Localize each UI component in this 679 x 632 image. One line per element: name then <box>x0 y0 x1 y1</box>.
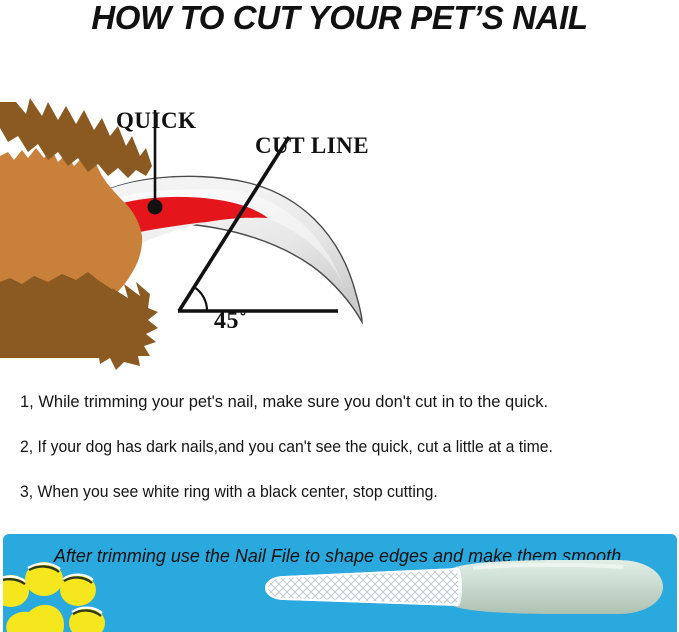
angle-arc-icon <box>194 287 207 311</box>
quick-pointer-dot <box>148 200 163 215</box>
nail-anatomy-diagram: QUICK CUT LINE 45˚ <box>0 36 679 372</box>
label-cut-line: CUT LINE <box>255 133 369 159</box>
label-angle-45: 45˚ <box>214 308 248 335</box>
nail-diagram-svg <box>0 36 679 372</box>
paw-print-icon <box>3 560 109 632</box>
infographic-page: HOW TO CUT YOUR PET’S NAIL <box>0 0 679 632</box>
instruction-item: 3, When you see white ring with a black … <box>20 483 438 502</box>
page-title: HOW TO CUT YOUR PET’S NAIL <box>0 0 679 36</box>
instruction-item: 2, If your dog has dark nails,and you ca… <box>20 438 553 457</box>
nail-file-banner: After trimming use the Nail File to shap… <box>3 534 677 632</box>
instruction-item: 1, While trimming your pet's nail, make … <box>20 393 548 412</box>
label-quick: QUICK <box>116 108 196 134</box>
nail-file-icon <box>263 560 677 618</box>
